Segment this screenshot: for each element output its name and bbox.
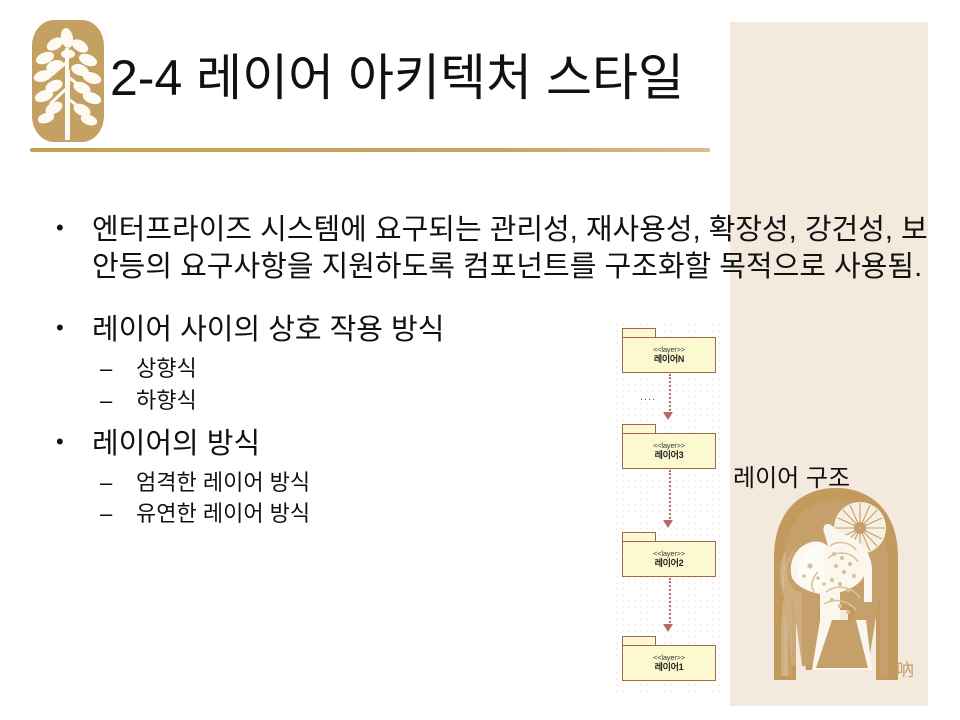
package-tab-icon (622, 636, 656, 645)
package-tab-icon (622, 328, 656, 337)
bullet-item-2: • 레이어 사이의 상호 작용 방식 (48, 312, 928, 349)
package-body: <<layer>> 레이어3 (622, 433, 716, 469)
bullet-marker: • (56, 426, 64, 458)
sub-bullet-item-2-1: – 상향식 (48, 353, 928, 384)
package-name: 레이어1 (655, 662, 684, 672)
package-stereotype: <<layer>> (653, 550, 685, 558)
diagram-caption: 레이어 구조 (733, 458, 850, 493)
bullet-item-1: • 엔터프라이즈 시스템에 요구되는 관리성, 재사용성, 확장성, 강건성, … (48, 212, 928, 286)
sub-bullet-text: 엄격한 레이어 방식 (136, 470, 310, 495)
bullet-marker: • (56, 312, 64, 344)
sub-bullet-marker: – (100, 498, 112, 529)
svg-text:吶: 吶 (896, 660, 914, 681)
sub-bullet-item-2-2: – 하향식 (48, 385, 928, 416)
sub-bullet-marker: – (100, 467, 112, 498)
package-tab-icon (622, 424, 656, 433)
package-stereotype: <<layer>> (653, 442, 685, 450)
dependency-arrow-head-3 (663, 624, 673, 632)
layer-architecture-diagram: <<layer>> 레이어N .... <<layer>> 레이어3 <<lay… (614, 322, 724, 692)
dependency-arrow-line-3 (669, 578, 672, 626)
dependency-arrow-head-1 (663, 412, 673, 420)
title-underline-rule (30, 148, 710, 152)
sub-bullet-text: 유연한 레이어 방식 (136, 501, 310, 526)
tree-logo-icon (30, 18, 106, 148)
package-name: 레이어2 (655, 558, 684, 568)
package-body: <<layer>> 레이어N (622, 337, 716, 373)
layer-ellipsis-label: .... (640, 392, 656, 403)
dependency-arrow-head-2 (663, 520, 673, 528)
package-body: <<layer>> 레이어2 (622, 541, 716, 577)
page-title: 2-4 레이어 아키텍처 스타일 (110, 52, 910, 105)
layer-package-3: <<layer>> 레이어3 (622, 424, 716, 469)
package-stereotype: <<layer>> (653, 346, 685, 354)
slide-canvas: 吶 (0, 0, 960, 720)
bullet-text: 레이어 사이의 상호 작용 방식 (92, 314, 444, 346)
dependency-arrow-line-1 (669, 374, 672, 414)
package-tab-icon (622, 532, 656, 541)
package-name: 레이어3 (655, 450, 684, 460)
sub-bullet-item-3-2: – 유연한 레이어 방식 (48, 498, 928, 529)
sub-bullet-text: 하향식 (136, 388, 197, 413)
package-stereotype: <<layer>> (653, 654, 685, 662)
package-name: 레이어N (654, 354, 684, 364)
layer-package-n: <<layer>> 레이어N (622, 328, 716, 373)
layer-package-2: <<layer>> 레이어2 (622, 532, 716, 577)
sub-bullet-text: 상향식 (136, 356, 197, 381)
spacer (48, 416, 928, 426)
dependency-arrow-line-2 (669, 470, 672, 522)
bullet-marker: • (56, 212, 64, 244)
sub-bullet-marker: – (100, 385, 112, 416)
bullet-text: 레이어의 방식 (92, 428, 260, 460)
bullet-text: 엔터프라이즈 시스템에 요구되는 관리성, 재사용성, 확장성, 강건성, 보안… (92, 214, 928, 283)
sub-bullet-marker: – (100, 353, 112, 384)
spacer (48, 286, 928, 312)
layer-package-1: <<layer>> 레이어1 (622, 636, 716, 681)
package-body: <<layer>> 레이어1 (622, 645, 716, 681)
